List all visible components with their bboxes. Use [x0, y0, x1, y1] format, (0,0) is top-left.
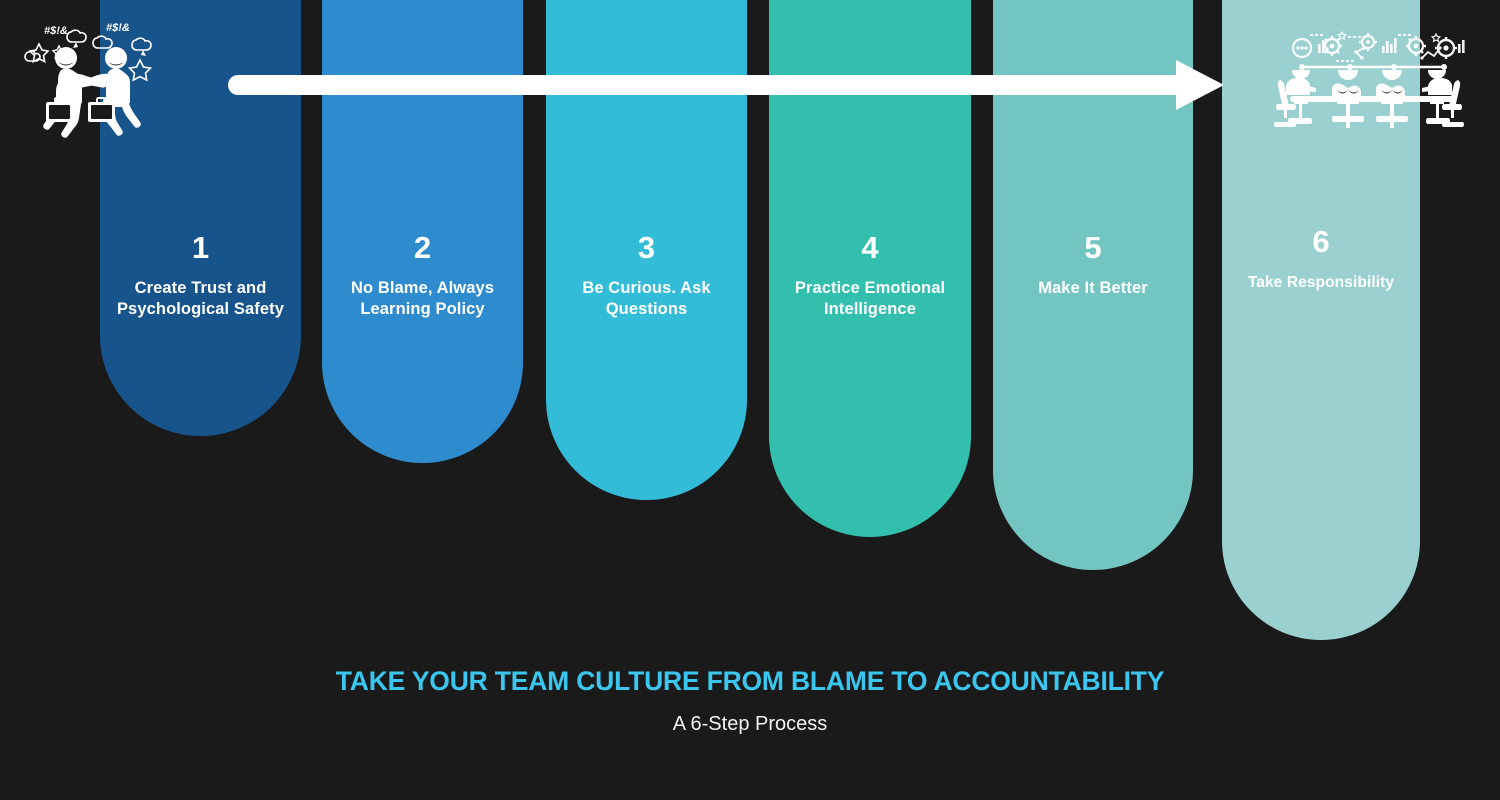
step-number: 1 [106, 232, 295, 263]
step-label-text: No Blame, Always Learning Policy [328, 278, 517, 320]
step-column-2[interactable]: 2 No Blame, Always Learning Policy [322, 0, 523, 463]
step-number: 3 [552, 232, 741, 263]
step-number: 2 [328, 232, 517, 263]
step-text-block: 5 Make It Better [993, 232, 1193, 299]
infographic-subtitle: A 6-Step Process [0, 714, 1500, 734]
step-label-text: Be Curious. Ask Questions [552, 278, 741, 320]
step-text-block: 4 Practice Emotional Intelligence [769, 232, 971, 320]
svg-text:#$!&: #$!& [106, 22, 130, 34]
svg-text:#$!&: #$!& [44, 25, 68, 37]
step-text-block: 6 Take Responsibility [1222, 226, 1420, 293]
team-meeting-collaboration-icon [1272, 22, 1472, 134]
caption-block: TAKE YOUR TEAM CULTURE FROM BLAME TO ACC… [0, 668, 1500, 734]
step-text-block: 3 Be Curious. Ask Questions [546, 232, 747, 320]
step-column-5[interactable]: 5 Make It Better [993, 0, 1193, 570]
step-number: 6 [1228, 226, 1414, 257]
two-people-blaming-icon: #$!& #$!& [18, 16, 164, 142]
step-label-text: Take Responsibility [1228, 273, 1414, 293]
step-number: 5 [999, 232, 1187, 263]
step-text-block: 2 No Blame, Always Learning Policy [322, 232, 523, 320]
step-column-3[interactable]: 3 Be Curious. Ask Questions [546, 0, 747, 500]
step-number: 4 [775, 232, 965, 263]
infographic-canvas: 1 Create Trust and Psychological Safety … [0, 0, 1500, 800]
step-label-text: Make It Better [999, 278, 1187, 299]
infographic-title: TAKE YOUR TEAM CULTURE FROM BLAME TO ACC… [0, 668, 1500, 695]
step-column-4[interactable]: 4 Practice Emotional Intelligence [769, 0, 971, 537]
step-text-block: 1 Create Trust and Psychological Safety [100, 232, 301, 320]
step-label-text: Practice Emotional Intelligence [775, 278, 965, 320]
step-label-text: Create Trust and Psychological Safety [106, 278, 295, 320]
